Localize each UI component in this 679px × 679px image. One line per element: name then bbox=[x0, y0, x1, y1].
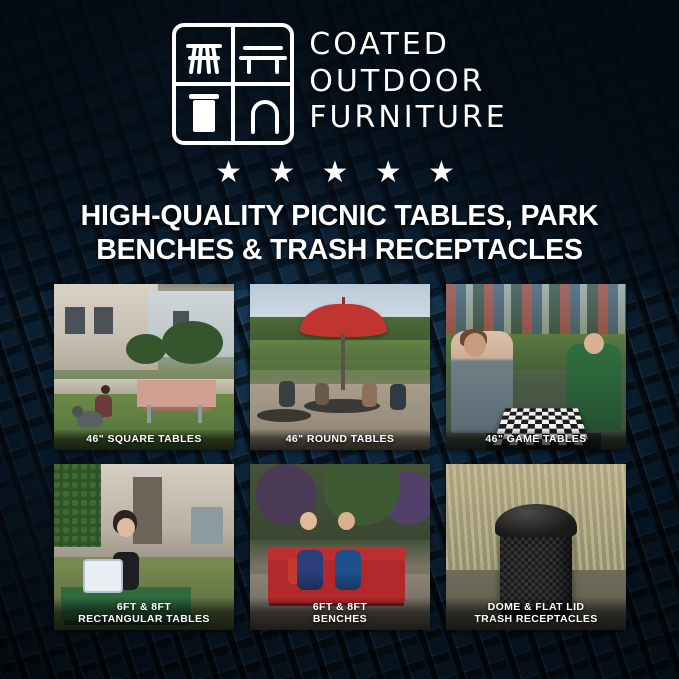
product-poster: COATED OUTDOOR FURNITURE ★ ★ ★ ★ ★ HIGH-… bbox=[0, 0, 679, 679]
poster-content: COATED OUTDOOR FURNITURE ★ ★ ★ ★ ★ HIGH-… bbox=[0, 0, 679, 679]
product-cell-square-tables[interactable]: 46" SQUARE TABLES bbox=[54, 284, 234, 450]
caption-line-2: RECTANGULAR TABLES bbox=[58, 613, 230, 625]
product-caption: 46" SQUARE TABLES bbox=[54, 429, 234, 450]
photo-square-tables bbox=[54, 284, 234, 450]
page-title: HIGH-QUALITY PICNIC TABLES, PARK BENCHES… bbox=[0, 200, 679, 267]
product-caption: 46" GAME TABLES bbox=[446, 429, 626, 450]
headline-line-2: BENCHES & TRASH RECEPTACLES bbox=[28, 234, 651, 268]
headline-line-1: HIGH-QUALITY PICNIC TABLES, PARK bbox=[28, 200, 651, 234]
caption-line-2: TRASH RECEPTACLES bbox=[450, 613, 622, 625]
caption-line-1: 46" GAME TABLES bbox=[485, 433, 586, 445]
product-cell-round-tables[interactable]: 46" ROUND TABLES bbox=[250, 284, 430, 450]
product-caption: DOME & FLAT LID TRASH RECEPTACLES bbox=[446, 597, 626, 630]
photo-game-tables bbox=[446, 284, 626, 450]
product-cell-rectangular-tables[interactable]: 6FT & 8FT RECTANGULAR TABLES bbox=[54, 464, 234, 630]
product-caption: 6FT & 8FT BENCHES bbox=[250, 597, 430, 630]
caption-line-2: BENCHES bbox=[254, 613, 426, 625]
photo-round-tables bbox=[250, 284, 430, 450]
caption-line-1: 6FT & 8FT bbox=[313, 601, 367, 613]
product-grid: 46" SQUARE TABLES bbox=[54, 284, 626, 630]
star-rating: ★ ★ ★ ★ ★ bbox=[0, 158, 679, 188]
brand-logo: COATED OUTDOOR FURNITURE bbox=[0, 22, 679, 146]
brand-name-line-3: FURNITURE bbox=[309, 101, 507, 135]
caption-line-1: DOME & FLAT LID bbox=[488, 601, 585, 613]
caption-line-1: 6FT & 8FT bbox=[117, 601, 171, 613]
product-cell-trash-receptacles[interactable]: DOME & FLAT LID TRASH RECEPTACLES bbox=[446, 464, 626, 630]
logo-mark-icon bbox=[171, 22, 295, 146]
caption-line-1: 46" SQUARE TABLES bbox=[86, 433, 201, 445]
product-cell-benches[interactable]: 6FT & 8FT BENCHES bbox=[250, 464, 430, 630]
brand-wordmark: COATED OUTDOOR FURNITURE bbox=[309, 22, 507, 135]
brand-name-line-2: OUTDOOR bbox=[309, 65, 507, 99]
product-caption: 46" ROUND TABLES bbox=[250, 429, 430, 450]
product-caption: 6FT & 8FT RECTANGULAR TABLES bbox=[54, 597, 234, 630]
product-cell-game-tables[interactable]: 46" GAME TABLES bbox=[446, 284, 626, 450]
caption-line-1: 46" ROUND TABLES bbox=[286, 433, 395, 445]
brand-name-line-1: COATED bbox=[309, 28, 507, 62]
